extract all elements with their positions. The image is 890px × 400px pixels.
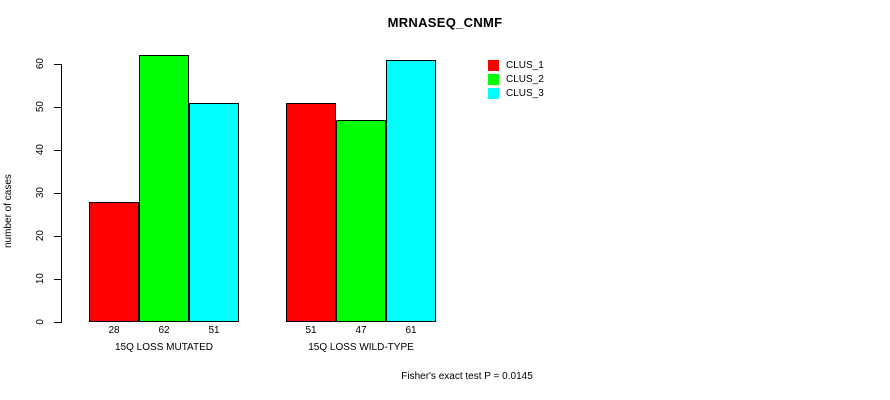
bar	[386, 60, 436, 322]
y-axis-tick	[54, 322, 61, 323]
legend-item: CLUS_1	[488, 58, 544, 72]
y-axis-tick	[54, 64, 61, 65]
legend: CLUS_1CLUS_2CLUS_3	[488, 58, 544, 100]
y-axis-tick	[54, 193, 61, 194]
bar-value-label: 51	[189, 325, 239, 337]
y-axis-tick-label: 10	[32, 269, 50, 289]
y-axis-tick	[54, 236, 61, 237]
y-axis-tick	[54, 107, 61, 108]
legend-item: CLUS_3	[488, 86, 544, 100]
y-axis-tick	[54, 279, 61, 280]
legend-item-label: CLUS_3	[506, 88, 544, 99]
y-axis-tick-label: 50	[32, 97, 50, 117]
chart-footnote: Fisher's exact test P = 0.0145	[0, 371, 890, 382]
y-axis-tick-label: 20	[32, 226, 50, 246]
bar-value-label: 62	[139, 325, 189, 337]
plot-area: 0102030405060 number of cases 2862515147…	[0, 0, 890, 400]
bar	[139, 55, 189, 322]
bar-value-label: 61	[386, 325, 436, 337]
bar-value-label: 47	[336, 325, 386, 337]
bar	[286, 103, 336, 322]
group-label: 15Q LOSS MUTATED	[89, 342, 239, 354]
legend-item-label: CLUS_1	[506, 60, 544, 71]
y-axis-tick-label: 60	[32, 54, 50, 74]
y-axis-tick-label: 0	[32, 312, 50, 332]
bar-value-label: 28	[89, 325, 139, 337]
group-label: 15Q LOSS WILD-TYPE	[286, 342, 436, 354]
bar-value-label: 51	[286, 325, 336, 337]
legend-item-label: CLUS_2	[506, 74, 544, 85]
chart-footnote-text: Fisher's exact test P = 0.0145	[401, 371, 533, 382]
bar	[89, 202, 139, 322]
bar	[189, 103, 239, 322]
y-axis-title: number of cases	[2, 166, 16, 256]
y-axis-tick-label: 40	[32, 140, 50, 160]
bar	[336, 120, 386, 322]
legend-item: CLUS_2	[488, 72, 544, 86]
legend-color-swatch	[488, 60, 499, 71]
y-axis-line	[61, 64, 62, 323]
y-axis-tick	[54, 150, 61, 151]
bar-chart-figure: MRNASEQ_CNMF 0102030405060 number of cas…	[0, 0, 890, 400]
y-axis-tick-label: 30	[32, 183, 50, 203]
legend-color-swatch	[488, 88, 499, 99]
legend-color-swatch	[488, 74, 499, 85]
